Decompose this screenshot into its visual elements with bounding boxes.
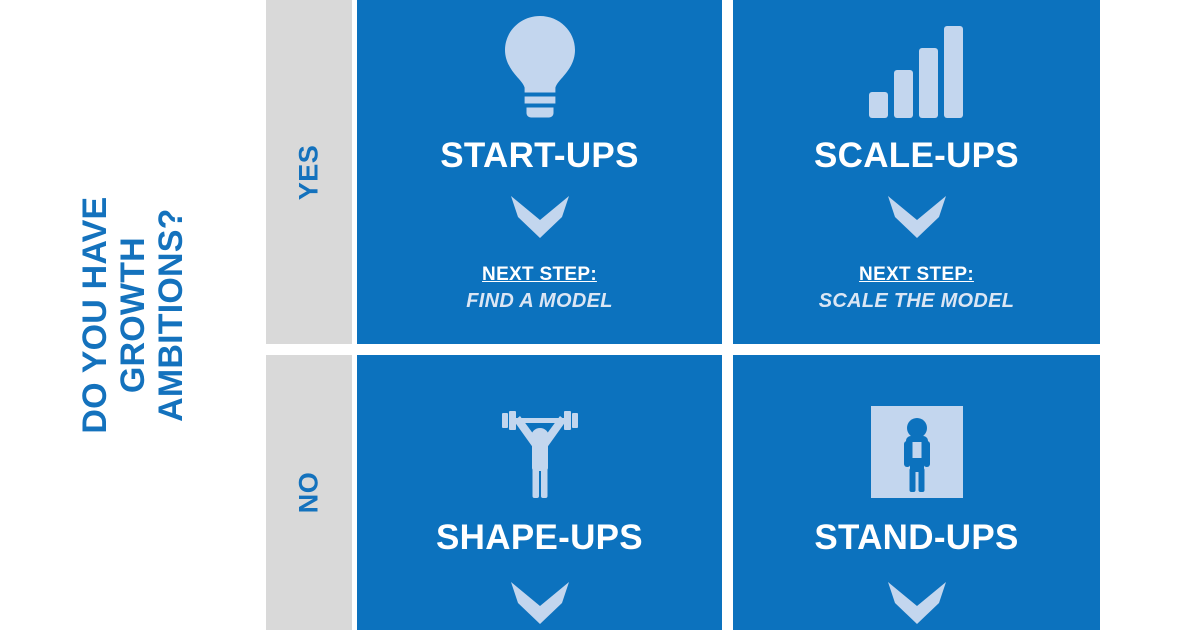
chevron-down-icon (510, 195, 570, 244)
axis-question: DO YOU HAVE GROWTH AMBITIONS? (0, 0, 266, 630)
next-step-label: NEXT STEP: (819, 264, 1015, 286)
quadrant-title: SHAPE-UPS (436, 520, 643, 555)
quadrant-stand-ups[interactable]: STAND-UPS (733, 355, 1100, 630)
row-label-yes: YES (266, 0, 352, 344)
row-label-yes-text: YES (294, 144, 325, 200)
axis-question-label: DO YOU HAVE GROWTH AMBITIONS? (76, 182, 190, 448)
next-step-value: SCALE THE MODEL (819, 290, 1015, 313)
growth-ambitions-matrix: DO YOU HAVE GROWTH AMBITIONS? YES NO STA… (0, 0, 1200, 630)
quadrant-title: SCALE-UPS (814, 138, 1019, 173)
quadrant-title: START-UPS (440, 138, 638, 173)
standing-person-icon (871, 405, 963, 498)
chevron-down-icon (510, 581, 570, 630)
quadrant-start-ups[interactable]: START-UPS NEXT STEP: FIND A MODEL (357, 0, 722, 344)
weightlifter-icon (497, 405, 583, 498)
next-step-block: NEXT STEP: SCALE THE MODEL (819, 264, 1015, 313)
bar-chart-icon (869, 10, 965, 118)
quadrant-shape-ups[interactable]: SHAPE-UPS (357, 355, 722, 630)
next-step-value: FIND A MODEL (466, 290, 613, 313)
next-step-label: NEXT STEP: (466, 264, 613, 286)
quadrant-scale-ups[interactable]: SCALE-UPS NEXT STEP: SCALE THE MODEL (733, 0, 1100, 344)
quadrant-title: STAND-UPS (814, 520, 1018, 555)
row-label-no-text: NO (294, 472, 325, 514)
chevron-down-icon (887, 195, 947, 244)
chevron-down-icon (887, 581, 947, 630)
lightbulb-icon (502, 10, 578, 118)
row-label-no: NO (266, 355, 352, 630)
next-step-block: NEXT STEP: FIND A MODEL (466, 264, 613, 313)
